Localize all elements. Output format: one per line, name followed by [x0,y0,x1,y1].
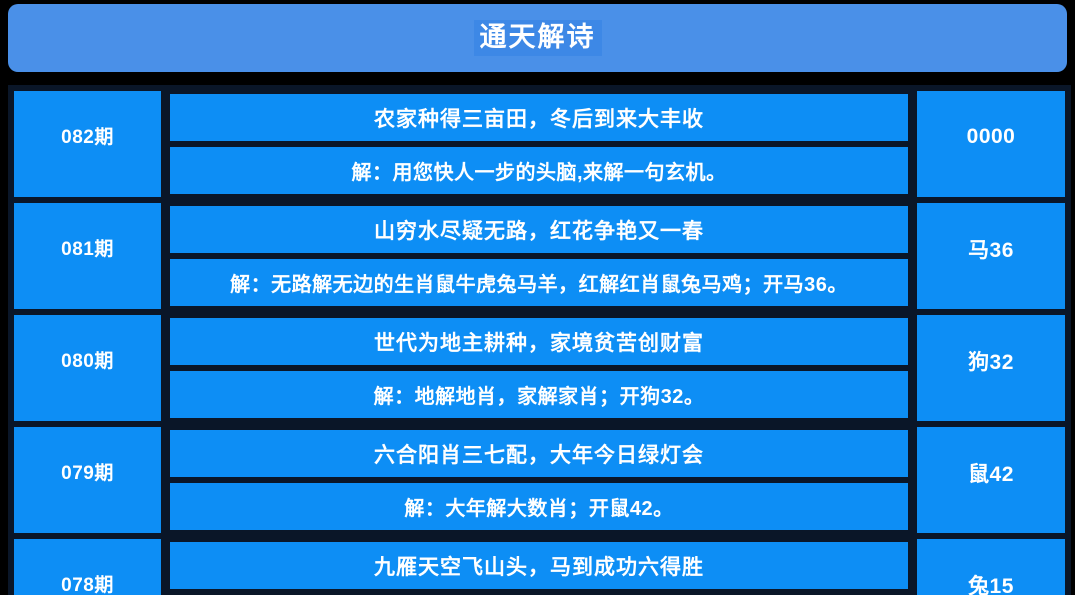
period-label: 082期 [11,88,164,200]
table-row[interactable]: 080期 世代为地主耕种，家境贫苦创财富 解：地解地肖，家解家肖；开狗32。 狗… [11,312,1068,424]
answer-line: 解：大年解大数肖；开鼠42。 [167,480,911,533]
poem-text-group: 九雁天空飞山头，马到成功六得胜 解：天解天肖龙兔牛马猴猪；开兔15。 [164,536,914,595]
poem-table-body: 082期 农家种得三亩田，冬后到来大丰收 解：用您快人一步的头脑,来解一句玄机。… [11,88,1068,595]
page-title: 通天解诗 [474,20,602,56]
poem-line: 九雁天空飞山头，马到成功六得胜 [167,539,911,592]
period-label: 078期 [11,536,164,595]
result-value: 狗32 [914,312,1068,424]
period-label: 081期 [11,200,164,312]
poem-results-table: 082期 农家种得三亩田，冬后到来大丰收 解：用您快人一步的头脑,来解一句玄机。… [8,85,1071,595]
table-row[interactable]: 081期 山穷水尽疑无路，红花争艳又一春 解：无路解无边的生肖鼠牛虎兔马羊，红解… [11,200,1068,312]
poem-line: 山穷水尽疑无路，红花争艳又一春 [167,203,911,256]
poem-text-group: 世代为地主耕种，家境贫苦创财富 解：地解地肖，家解家肖；开狗32。 [164,312,914,424]
table-row[interactable]: 078期 九雁天空飞山头，马到成功六得胜 解：天解天肖龙兔牛马猴猪；开兔15。 … [11,536,1068,595]
poem-line: 农家种得三亩田，冬后到来大丰收 [167,91,911,144]
answer-line: 解：地解地肖，家解家肖；开狗32。 [167,368,911,421]
page-header-banner: 通天解诗 [8,4,1067,72]
period-label: 080期 [11,312,164,424]
poem-text-group: 六合阳肖三七配，大年今日绿灯会 解：大年解大数肖；开鼠42。 [164,424,914,536]
answer-line: 解：用您快人一步的头脑,来解一句玄机。 [167,144,911,197]
result-value: 0000 [914,88,1068,200]
result-value: 鼠42 [914,424,1068,536]
result-value: 马36 [914,200,1068,312]
poem-text-group: 山穷水尽疑无路，红花争艳又一春 解：无路解无边的生肖鼠牛虎兔马羊，红解红肖鼠兔马… [164,200,914,312]
poem-text-group: 农家种得三亩田，冬后到来大丰收 解：用您快人一步的头脑,来解一句玄机。 [164,88,914,200]
table-row[interactable]: 082期 农家种得三亩田，冬后到来大丰收 解：用您快人一步的头脑,来解一句玄机。… [11,88,1068,200]
poem-line: 六合阳肖三七配，大年今日绿灯会 [167,427,911,480]
result-value: 兔15 [914,536,1068,595]
answer-line: 解：无路解无边的生肖鼠牛虎兔马羊，红解红肖鼠兔马鸡；开马36。 [167,256,911,309]
period-label: 079期 [11,424,164,536]
table-row[interactable]: 079期 六合阳肖三七配，大年今日绿灯会 解：大年解大数肖；开鼠42。 鼠42 [11,424,1068,536]
poem-line: 世代为地主耕种，家境贫苦创财富 [167,315,911,368]
